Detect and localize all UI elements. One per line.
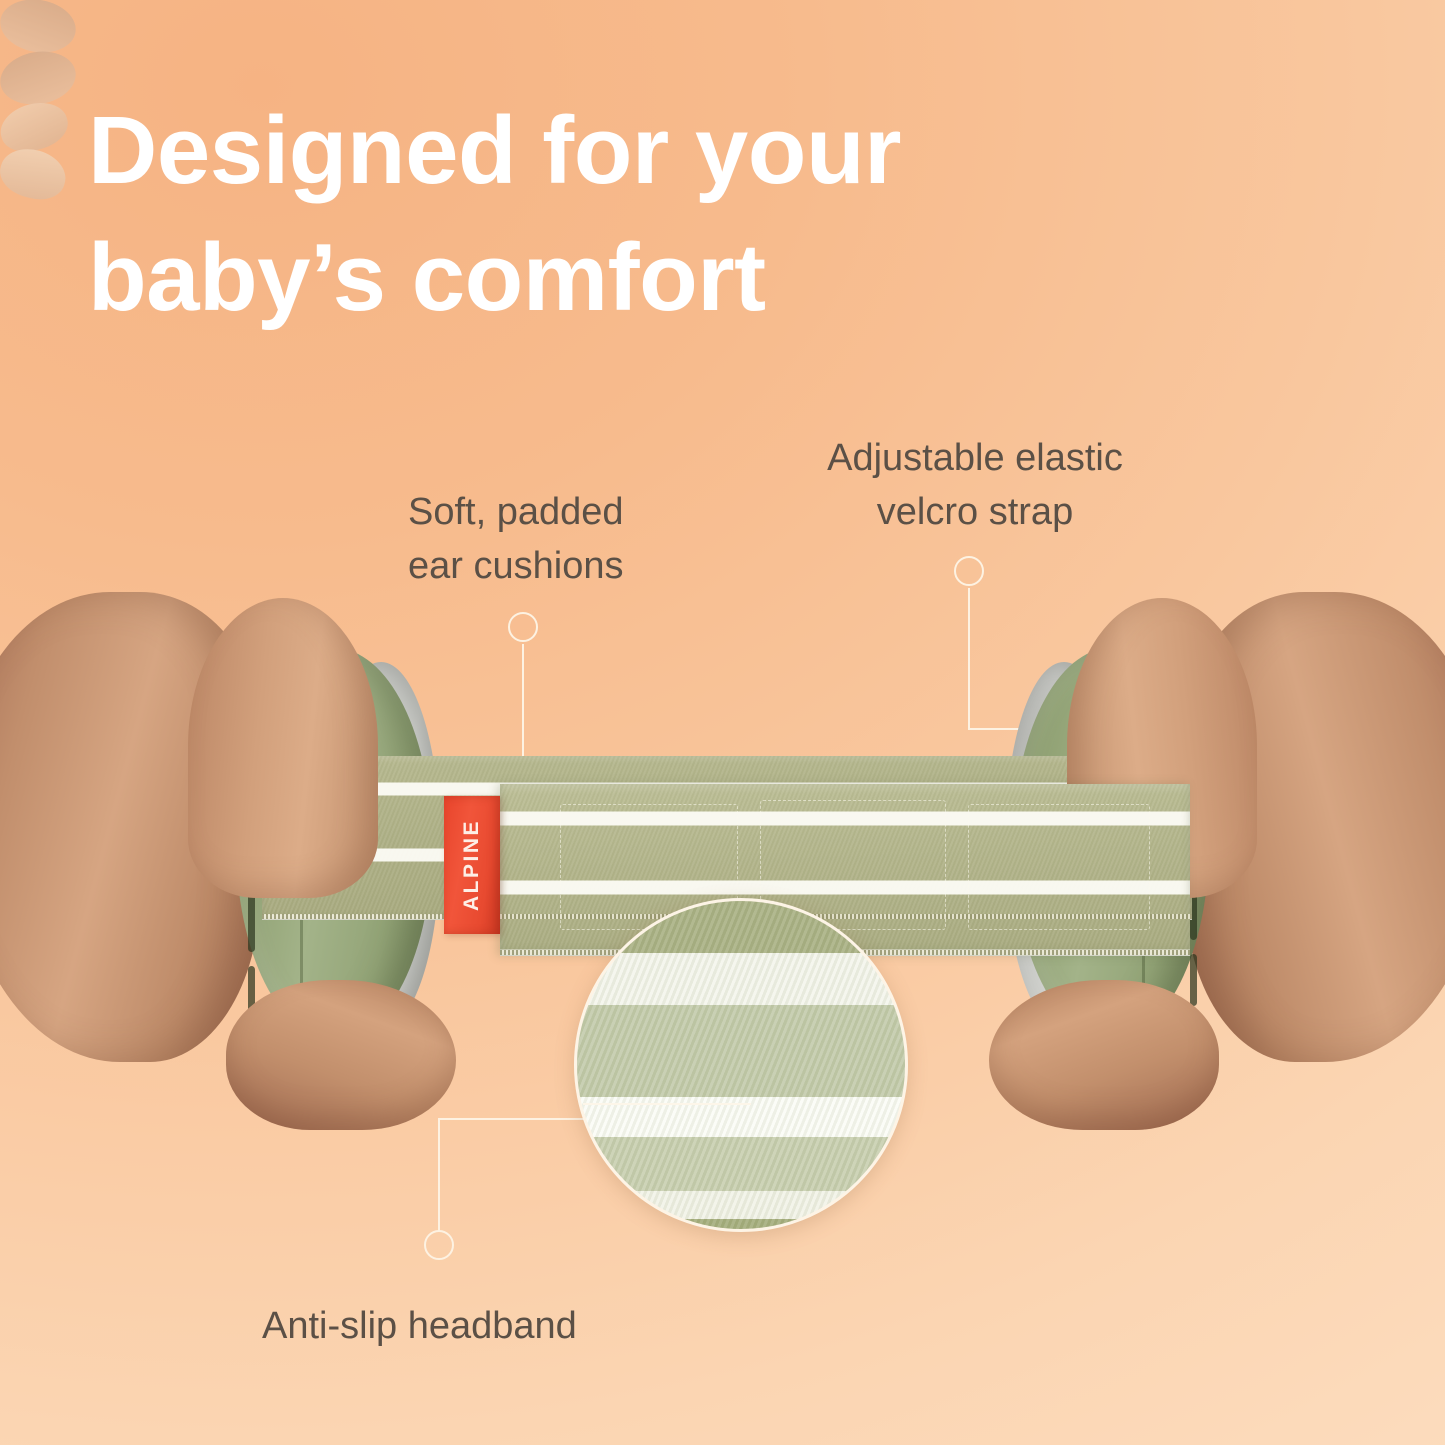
left-hand-lower-finger: [226, 980, 456, 1130]
product-photo: ALPINE: [0, 0, 1445, 1445]
callout-line-anti-slip-headband-v: [438, 1118, 440, 1232]
alpine-brand-tag: ALPINE: [444, 796, 500, 934]
fabric-zoom-rule-line: [583, 1103, 751, 1105]
callout-line-velcro-strap-v: [968, 588, 970, 730]
callout-label-velcro-strap: Adjustable elastic velcro strap: [795, 432, 1155, 540]
callout-label-ear-cushions: Soft, padded ear cushions: [408, 486, 728, 594]
callout-dot-anti-slip-headband: [424, 1230, 454, 1260]
right-hand-lower-nail: [0, 46, 80, 110]
callout-dot-velcro-strap: [954, 556, 984, 586]
fabric-zoom-inset: [574, 898, 908, 1232]
alpine-brand-tag-label: ALPINE: [460, 819, 484, 911]
left-hand-thumb: [188, 598, 378, 898]
right-cup-vent: [1190, 954, 1197, 1006]
headband-strap-front: [500, 784, 1190, 956]
right-thumb-nail: [0, 142, 71, 206]
left-thumb-nail: [0, 96, 73, 159]
right-hand-lower-finger: [989, 980, 1219, 1130]
callout-dot-ear-cushions: [508, 612, 538, 642]
product-infographic: Designed for your baby’s comfort: [0, 0, 1445, 1445]
callout-label-anti-slip-headband: Anti-slip headband: [262, 1300, 742, 1354]
left-hand-lower-nail: [0, 0, 80, 58]
